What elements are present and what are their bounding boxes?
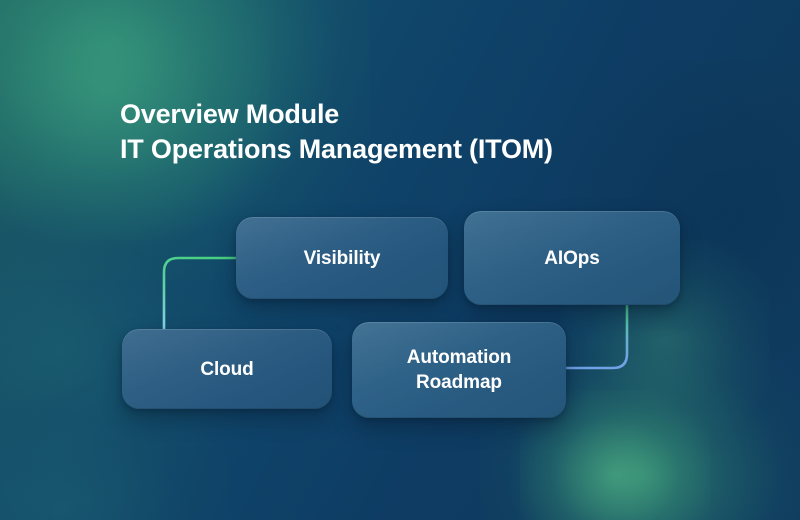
- node-automation-label-line-1: Automation: [407, 347, 512, 368]
- connector-cloud-to-visibility: [164, 258, 239, 331]
- node-automation[interactable]: Automation Roadmap: [352, 322, 566, 418]
- node-aiops-label: AIOps: [532, 246, 611, 271]
- node-automation-label-line-2: Roadmap: [416, 372, 502, 393]
- node-visibility-label: Visibility: [292, 246, 393, 271]
- node-automation-label: Automation Roadmap: [395, 345, 524, 395]
- node-visibility[interactable]: Visibility: [236, 217, 448, 299]
- node-aiops[interactable]: AIOps: [464, 211, 680, 305]
- connector-aiops-to-automation: [564, 304, 627, 368]
- node-cloud-label: Cloud: [188, 357, 265, 382]
- diagram-canvas: Overview Module IT Operations Management…: [0, 0, 800, 520]
- node-cloud[interactable]: Cloud: [122, 329, 332, 409]
